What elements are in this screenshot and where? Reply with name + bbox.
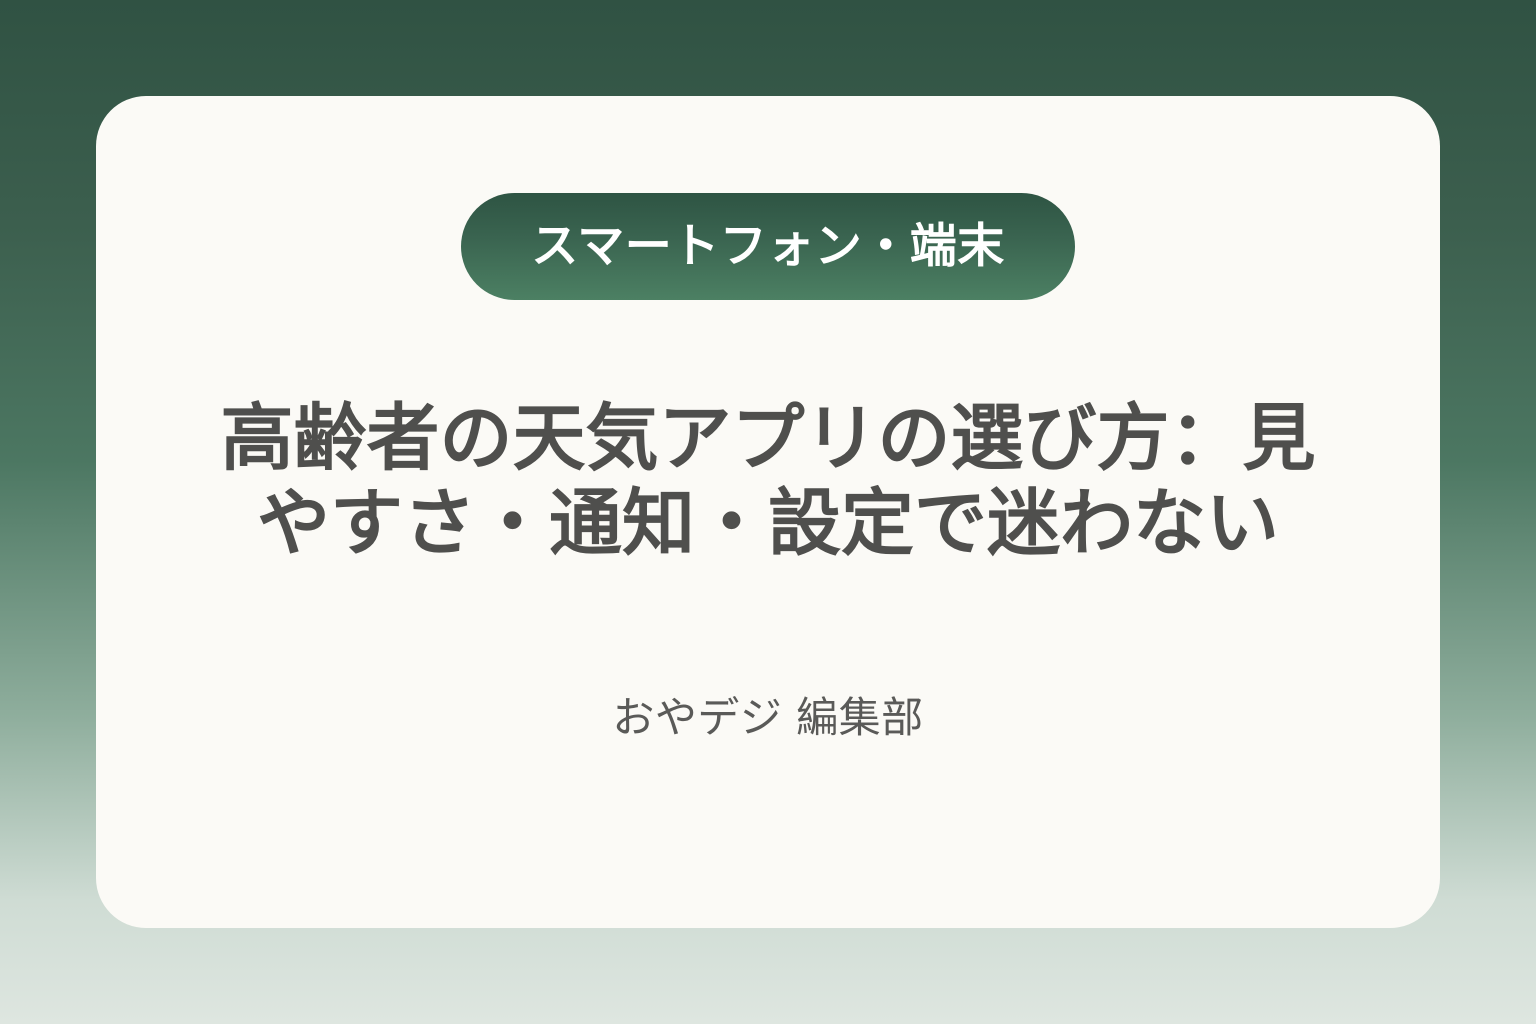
og-image-canvas: スマートフォン・端末 高齢者の天気アプリの選び方：見やすさ・通知・設定で迷わない…: [0, 0, 1536, 1024]
page-title: 高齢者の天気アプリの選び方：見やすさ・通知・設定で迷わない: [208, 396, 1328, 567]
byline: おやデジ 編集部: [612, 697, 923, 739]
article-card: スマートフォン・端末 高齢者の天気アプリの選び方：見やすさ・通知・設定で迷わない…: [96, 96, 1440, 928]
category-badge: スマートフォン・端末: [461, 193, 1075, 300]
category-badge-label: スマートフォン・端末: [531, 223, 1005, 270]
